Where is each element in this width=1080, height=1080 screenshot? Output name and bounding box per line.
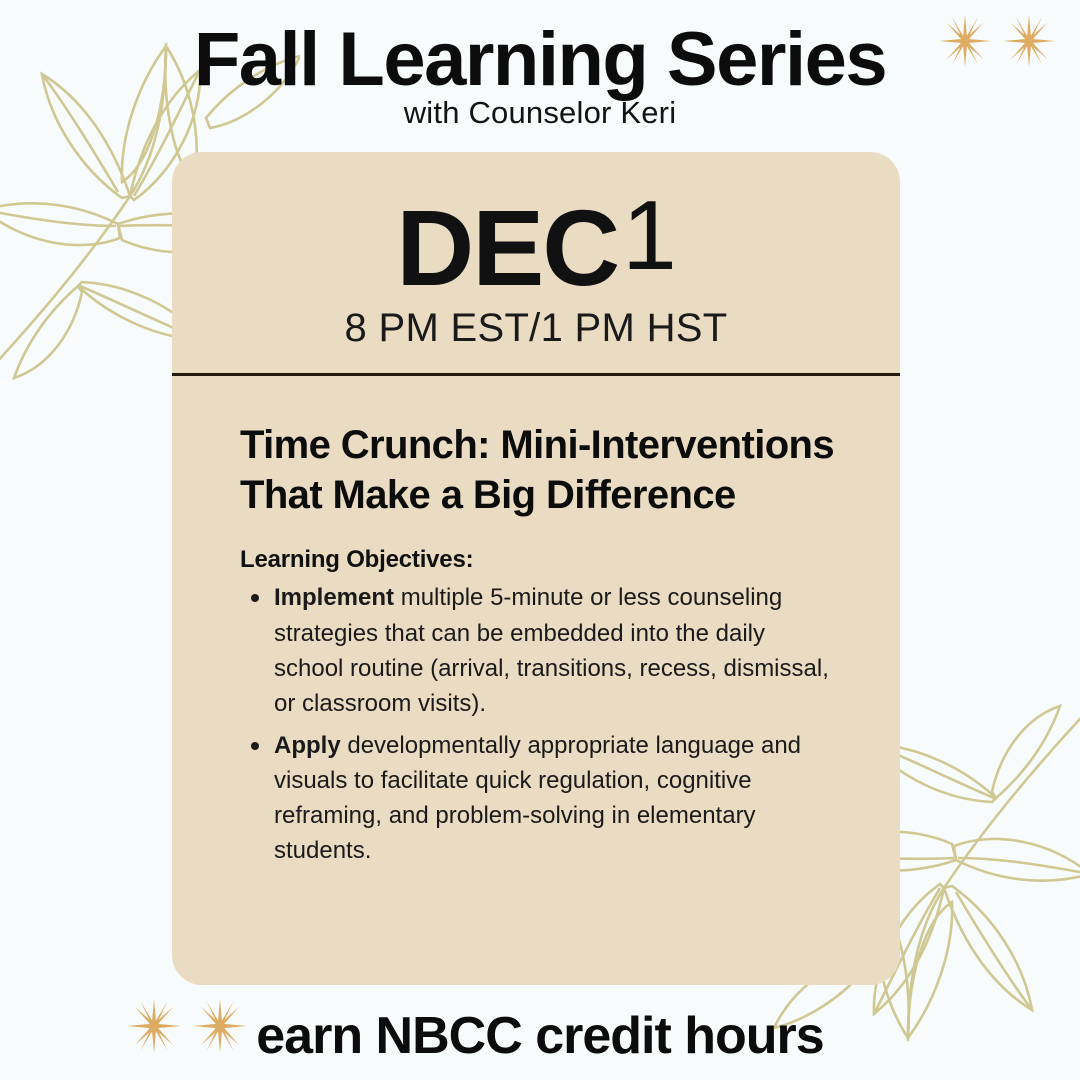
date-line: DEC 1: [172, 196, 900, 300]
poster-footer: earn NBCC credit hours: [0, 1006, 1080, 1066]
session-title: Time Crunch: Mini-Interventions That Mak…: [240, 420, 838, 521]
event-card: DEC 1 8 PM EST/1 PM HST Time Crunch: Min…: [172, 152, 900, 985]
date-day: 1: [622, 188, 676, 282]
list-item: Apply developmentally appropriate langua…: [240, 728, 838, 869]
card-body: Time Crunch: Mini-Interventions That Mak…: [172, 376, 900, 869]
objective-lead: Apply: [274, 732, 341, 759]
date-time: 8 PM EST/1 PM HST: [172, 306, 900, 351]
objective-text: developmentally appropriate language and…: [274, 732, 801, 865]
objectives-label: Learning Objectives:: [240, 546, 838, 574]
date-month: DEC: [396, 196, 618, 300]
objectives-list: Implement multiple 5-minute or less coun…: [240, 580, 838, 868]
date-block: DEC 1 8 PM EST/1 PM HST: [172, 152, 900, 351]
page-subtitle: with Counselor Keri: [0, 95, 1080, 131]
poster-header: Fall Learning Series with Counselor Keri: [0, 0, 1080, 131]
page-title: Fall Learning Series: [0, 20, 1080, 99]
list-item: Implement multiple 5-minute or less coun…: [240, 580, 838, 721]
footer-text: earn NBCC credit hours: [0, 1006, 1080, 1066]
objective-lead: Implement: [274, 584, 394, 611]
